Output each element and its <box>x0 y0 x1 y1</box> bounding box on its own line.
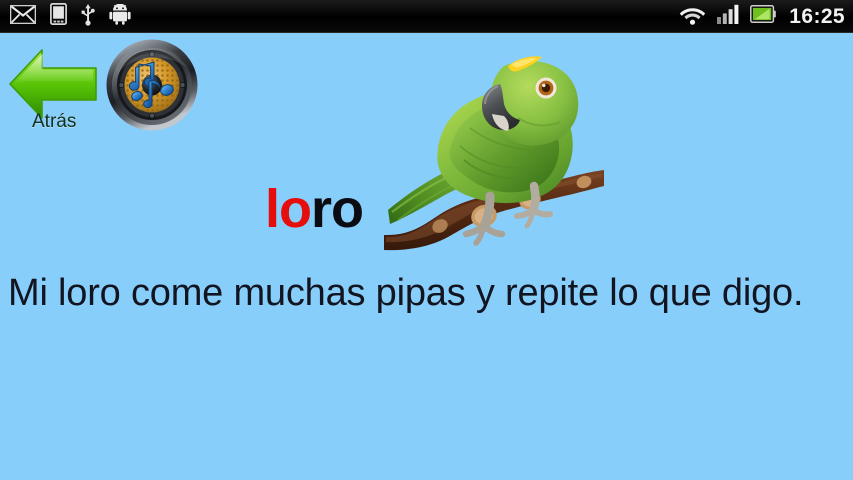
word-rest: ro <box>311 179 363 239</box>
usb-icon <box>81 3 95 31</box>
mail-icon <box>10 5 36 29</box>
status-bar-right-icons: 16:25 <box>679 0 845 33</box>
word-highlight: lo <box>265 179 311 239</box>
back-arrow-icon <box>4 40 104 128</box>
signal-icon <box>717 4 739 29</box>
word-display: loro <box>265 182 363 236</box>
speaker-icon <box>105 38 199 132</box>
back-button[interactable]: Atrás <box>4 40 104 128</box>
parrot-on-branch-image <box>378 30 610 262</box>
android-icon <box>109 4 131 30</box>
sentence-text: Mi loro come muchas pipas y repite lo qu… <box>8 272 848 315</box>
wifi-icon <box>679 4 706 30</box>
status-bar-left-icons <box>10 0 131 33</box>
sound-button[interactable] <box>105 38 199 132</box>
status-bar-clock: 16:25 <box>787 6 845 27</box>
status-bar: 16:25 <box>0 0 853 33</box>
battery-icon <box>750 5 776 28</box>
phone-icon <box>50 3 67 30</box>
app-screen: 16:25 Atrás <box>0 0 853 480</box>
